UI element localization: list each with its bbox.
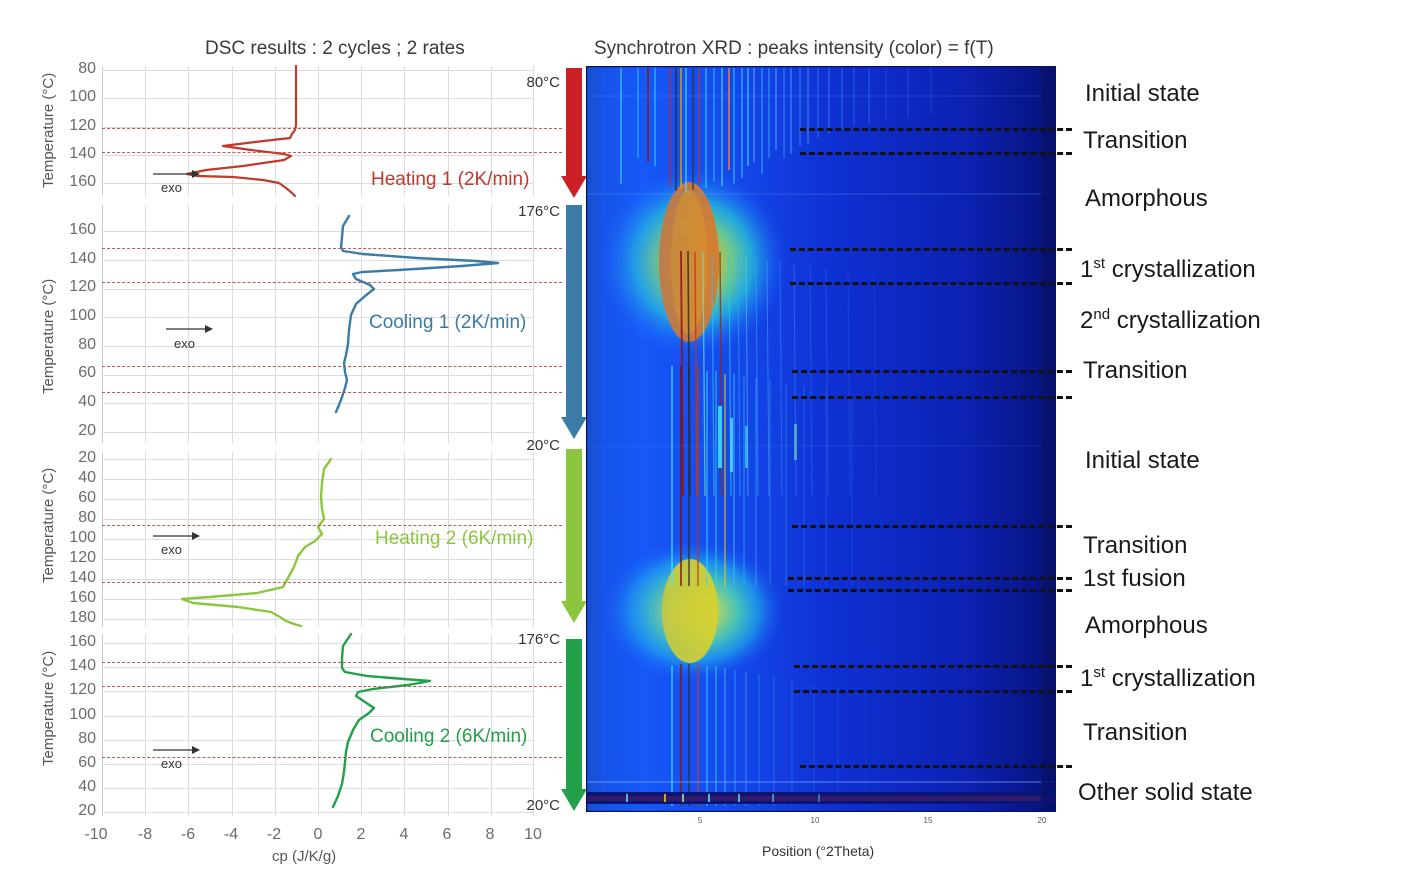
state-label-index: 1 — [1080, 665, 1093, 692]
xrd-x-axis-title: Position (°2Theta) — [762, 843, 874, 859]
panel-1-ytick-2: 120 — [50, 117, 96, 135]
panel-4-ytick-6: 40 — [50, 778, 96, 796]
panel-3-ytick-5: 120 — [50, 549, 96, 567]
state-divider — [792, 396, 1072, 399]
panel-2-ytick-5: 60 — [50, 364, 96, 382]
state-label-transition-3: Transition — [1083, 532, 1187, 560]
panel-2-marker-line-3 — [102, 392, 562, 393]
panel-2-series-label: Cooling 1 (2K/min) — [369, 312, 526, 334]
dsc-xtick-3: -4 — [211, 826, 251, 844]
exo-label-3: exo — [161, 542, 182, 557]
dsc-xtick-2: -6 — [168, 826, 208, 844]
state-label-text: crystallization — [1110, 307, 1261, 334]
xrd-title: Synchrotron XRD : peaks intensity (color… — [594, 38, 994, 60]
panel-4-ytick-1: 140 — [50, 657, 96, 675]
panel-2-marker-line-1 — [102, 282, 562, 283]
panel-2-ytick-6: 40 — [50, 393, 96, 411]
state-divider — [800, 765, 1072, 768]
panel-2-ytick-4: 80 — [50, 336, 96, 354]
panel-2-ytick-0: 160 — [50, 221, 96, 239]
panel-4-series-label: Cooling 2 (6K/min) — [370, 726, 527, 748]
state-label-text: Amorphous — [1085, 612, 1208, 639]
state-label-text: Initial state — [1085, 447, 1200, 474]
heating-1-arrow — [566, 68, 582, 198]
state-label-transition-4: Transition — [1083, 719, 1187, 747]
state-label-transition-2: Transition — [1083, 357, 1187, 385]
panel-1-ytick-1: 100 — [50, 88, 96, 106]
exo-label-1: exo — [161, 180, 182, 195]
panel-2-marker-line-0 — [102, 248, 562, 249]
panel-1-ytick-0: 80 — [50, 60, 96, 78]
state-label-text: Transition — [1083, 719, 1187, 746]
state-divider — [794, 690, 1072, 693]
panel-4-ytick-7: 20 — [50, 802, 96, 820]
panel-3-ytick-8: 180 — [50, 609, 96, 627]
state-label-first-crystallization-2: 1st crystallization — [1080, 664, 1256, 693]
state-label-text: Transition — [1083, 532, 1187, 559]
xrd-heatmap[interactable] — [586, 66, 1056, 812]
arrow-head-down-icon — [561, 789, 587, 811]
cooling-1-arrow-top-label: 176°C — [494, 203, 560, 220]
state-label-initial-state-2: Initial state — [1085, 447, 1200, 475]
state-label-transition-1: Transition — [1083, 127, 1187, 155]
state-label-index: 2 — [1080, 307, 1093, 334]
panel-3-ytick-4: 100 — [50, 529, 96, 547]
state-divider — [790, 282, 1072, 285]
xrd-heatmap-canvas — [586, 66, 1056, 812]
exo-arrow-icon-4 — [152, 744, 200, 756]
panel-2-ytick-2: 120 — [50, 278, 96, 296]
arrow-shaft — [566, 449, 582, 601]
arrow-shaft — [566, 205, 582, 417]
state-label-first-fusion: 1st fusion — [1083, 565, 1186, 593]
panel-2-ytick-3: 100 — [50, 307, 96, 325]
heating-1-arrow-top-label: 80°C — [500, 74, 560, 91]
arrow-head-down-icon — [561, 601, 587, 623]
heating-2-arrow-top-label: 20°C — [500, 437, 560, 454]
panel-3-ytick-1: 40 — [50, 469, 96, 487]
panel-4-marker-line-0 — [102, 662, 562, 663]
xrd-xtick-2: 15 — [924, 816, 933, 825]
arrow-head-down-icon — [561, 417, 587, 439]
state-divider — [790, 248, 1072, 251]
panel-2-ytick-1: 140 — [50, 250, 96, 268]
dsc-x-axis-title: cp (J/K/g) — [272, 848, 336, 865]
state-label-ordinal-suffix: st — [1093, 255, 1105, 272]
panel-3-series-label: Heating 2 (6K/min) — [375, 528, 533, 550]
panel-2-ytick-7: 20 — [50, 422, 96, 440]
xrd-xtick-0: 5 — [698, 816, 702, 825]
state-label-text: Other solid state — [1078, 779, 1253, 806]
cooling-2-arrow-top-label: 176°C — [494, 631, 560, 648]
exo-label-4: exo — [161, 756, 182, 771]
exo-arrow-icon-1 — [152, 168, 200, 180]
panel-3-ytick-2: 60 — [50, 489, 96, 507]
panel-4-marker-line-1 — [102, 686, 562, 687]
panel-2-marker-line-2 — [102, 366, 562, 367]
state-label-amorphous-1: Amorphous — [1085, 185, 1208, 213]
cooling-2-arrow-bottom-label: 20°C — [494, 797, 560, 814]
dsc-xtick-10: 10 — [513, 826, 553, 844]
xrd-xtick-3: 20 — [1038, 816, 1047, 825]
state-divider — [788, 577, 1072, 580]
state-label-amorphous-2: Amorphous — [1085, 612, 1208, 640]
dsc-xtick-5: 0 — [298, 826, 338, 844]
panel-4-ytick-4: 80 — [50, 730, 96, 748]
cooling-1-arrow — [566, 205, 582, 443]
state-label-text: crystallization — [1105, 665, 1256, 692]
panel-4-ytick-3: 100 — [50, 706, 96, 724]
panel-3-ytick-6: 140 — [50, 569, 96, 587]
state-label-text: Transition — [1083, 127, 1187, 154]
state-label-index: 1 — [1080, 256, 1093, 283]
dsc-xtick-7: 4 — [384, 826, 424, 844]
state-divider — [792, 370, 1072, 373]
state-label-text: 1st fusion — [1083, 565, 1186, 592]
panel-1-ytick-3: 140 — [50, 145, 96, 163]
panel-1-marker-line-0 — [102, 128, 562, 129]
panel-4-ytick-2: 120 — [50, 681, 96, 699]
panel-3-ytick-7: 160 — [50, 589, 96, 607]
panel-3-ytick-3: 80 — [50, 509, 96, 527]
heating-2-arrow — [566, 449, 582, 627]
state-label-text: crystallization — [1105, 256, 1256, 283]
state-label-second-crystallization: 2nd crystallization — [1080, 306, 1261, 335]
state-label-text: Amorphous — [1085, 185, 1208, 212]
dsc-xtick-1: -8 — [125, 826, 165, 844]
xrd-xtick-1: 10 — [811, 816, 820, 825]
dsc-xtick-4: -2 — [254, 826, 294, 844]
dsc-xtick-0: -10 — [76, 826, 116, 844]
arrow-shaft — [566, 68, 582, 176]
exo-label-2: exo — [174, 336, 195, 351]
figure-root: DSC results : 2 cycles ; 2 rates Synchro… — [0, 0, 1424, 891]
state-divider — [794, 665, 1072, 668]
exo-arrow-icon-3 — [152, 530, 200, 542]
dsc-xtick-6: 2 — [341, 826, 381, 844]
state-label-text: Transition — [1083, 357, 1187, 384]
panel-4-ytick-5: 60 — [50, 754, 96, 772]
panel-3-ytick-0: 20 — [50, 449, 96, 467]
panel-1-series-label: Heating 1 (2K/min) — [371, 169, 529, 191]
dsc-xtick-9: 8 — [470, 826, 510, 844]
dsc-xtick-8: 6 — [427, 826, 467, 844]
panel-4-ytick-0: 160 — [50, 633, 96, 651]
panel-1-ytick-4: 160 — [50, 173, 96, 191]
state-label-ordinal-suffix: st — [1093, 664, 1105, 681]
state-divider — [800, 152, 1072, 155]
state-label-ordinal-suffix: nd — [1093, 306, 1110, 323]
state-label-text: Initial state — [1085, 80, 1200, 107]
state-label-other-solid-state: Other solid state — [1078, 779, 1253, 807]
dsc-title: DSC results : 2 cycles ; 2 rates — [205, 38, 465, 60]
state-divider — [788, 589, 1072, 592]
state-label-first-crystallization-1: 1st crystallization — [1080, 255, 1256, 284]
state-label-initial-state-1: Initial state — [1085, 80, 1200, 108]
arrow-shaft — [566, 639, 582, 789]
state-divider — [800, 128, 1072, 131]
cooling-2-arrow — [566, 639, 582, 815]
exo-arrow-icon-2 — [165, 323, 213, 335]
panel-1-marker-line-1 — [102, 152, 562, 153]
panel-3-marker-line-0 — [102, 525, 562, 526]
state-divider — [792, 525, 1072, 528]
arrow-head-down-icon — [561, 176, 587, 198]
panel-3-marker-line-1 — [102, 582, 562, 583]
